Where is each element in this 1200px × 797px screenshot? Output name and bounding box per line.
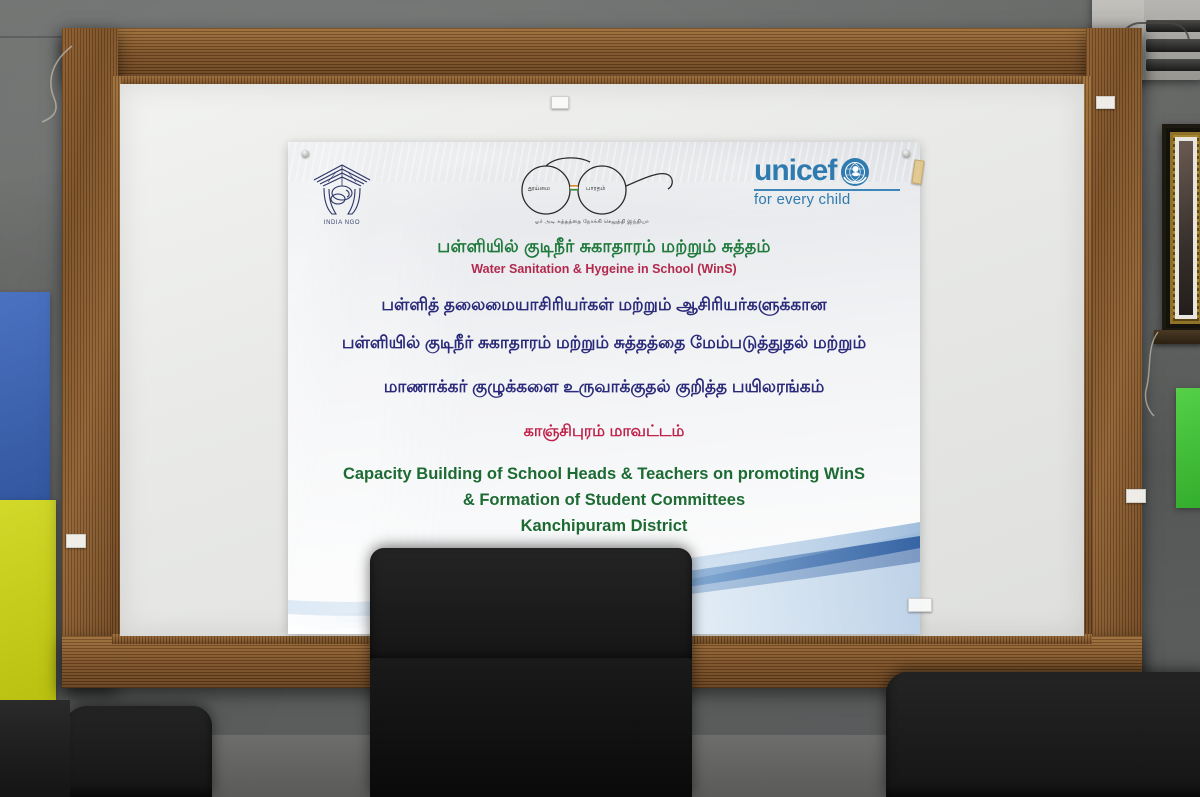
wall-paper-blue bbox=[0, 292, 50, 507]
frame-top-rail bbox=[62, 28, 1142, 80]
swachh-lens-left-text: தூய்மை bbox=[528, 186, 550, 193]
tape-right-mid bbox=[1126, 489, 1146, 503]
unicef-emblem-icon bbox=[840, 157, 870, 187]
banner-pin-top-right bbox=[903, 150, 910, 157]
screenshot-root: INDIA NGO தூய்மை பாரதம் ஓர் அடி சுத்தத்த… bbox=[0, 0, 1200, 797]
tape-banner-bottom-right bbox=[908, 598, 932, 612]
unicef-logo: unicef for every child bbox=[754, 156, 900, 218]
india-ngo-icon bbox=[310, 162, 374, 216]
framed-picture bbox=[1162, 124, 1200, 332]
banner-pin-top-left bbox=[302, 150, 309, 157]
banner-district-tamil: காஞ்சிபுரம் மாவட்டம் bbox=[288, 422, 920, 442]
frame-right-stile bbox=[1086, 28, 1142, 688]
banner-footer-line-3: Kanchipuram District bbox=[288, 516, 920, 537]
banner-footer-line-2: & Formation of Student Committees bbox=[288, 490, 920, 511]
india-ngo-logo: INDIA NGO bbox=[310, 162, 374, 224]
wall-wire-right bbox=[1142, 330, 1168, 420]
wall-wire bbox=[28, 44, 74, 124]
india-ngo-caption: INDIA NGO bbox=[310, 220, 374, 226]
banner-body-tamil-line-1: பள்ளித் தலைமையாசிரியர்கள் மற்றும் ஆசிரிய… bbox=[288, 294, 920, 316]
chair-center-back bbox=[370, 658, 692, 797]
banner-heading-english: Water Sanitation & Hygeine in School (Wi… bbox=[288, 262, 920, 276]
chair-right-headrest bbox=[886, 672, 1200, 797]
unicef-tagline: for every child bbox=[754, 192, 900, 209]
banner-heading-tamil: பள்ளியில் குடிநீர் சுகாதாரம் மற்றும் சுத… bbox=[288, 236, 920, 259]
wall-paper-green bbox=[1176, 388, 1200, 508]
swachh-caption: ஓர் அடி சுத்தத்தை நோக்கி செலுத்தி இந்திய… bbox=[486, 219, 698, 226]
tape-left-mid bbox=[66, 534, 86, 548]
bottom-left-shadow bbox=[0, 700, 70, 797]
chair-left bbox=[62, 706, 212, 797]
picture-photo bbox=[1179, 141, 1193, 315]
swachh-lens-right-text: பாரதம் bbox=[586, 186, 605, 193]
frame-left-stile bbox=[62, 28, 118, 688]
wall-paper-yellow bbox=[0, 500, 56, 730]
tape-top-right bbox=[1096, 96, 1115, 109]
swachh-bharat-logo: தூய்மை பாரதம் ஓர் அடி சுத்தத்தை நோக்கி ச… bbox=[504, 156, 680, 224]
unicef-wordmark: unicef bbox=[754, 156, 836, 186]
chair-center bbox=[370, 548, 692, 797]
chair-left-headrest bbox=[62, 706, 212, 797]
chair-right bbox=[886, 672, 1200, 797]
tape-top-center bbox=[551, 96, 569, 109]
banner-body-tamil-line-3: மாணாக்கர் குழுக்களை உருவாக்குதல் குறித்த… bbox=[288, 376, 920, 398]
banner-footer-line-1: Capacity Building of School Heads & Teac… bbox=[288, 464, 920, 485]
banner-body-tamil-line-2: பள்ளியில் குடிநீர் சுகாதாரம் மற்றும் சுத… bbox=[288, 332, 920, 354]
chair-center-headrest bbox=[370, 548, 692, 663]
